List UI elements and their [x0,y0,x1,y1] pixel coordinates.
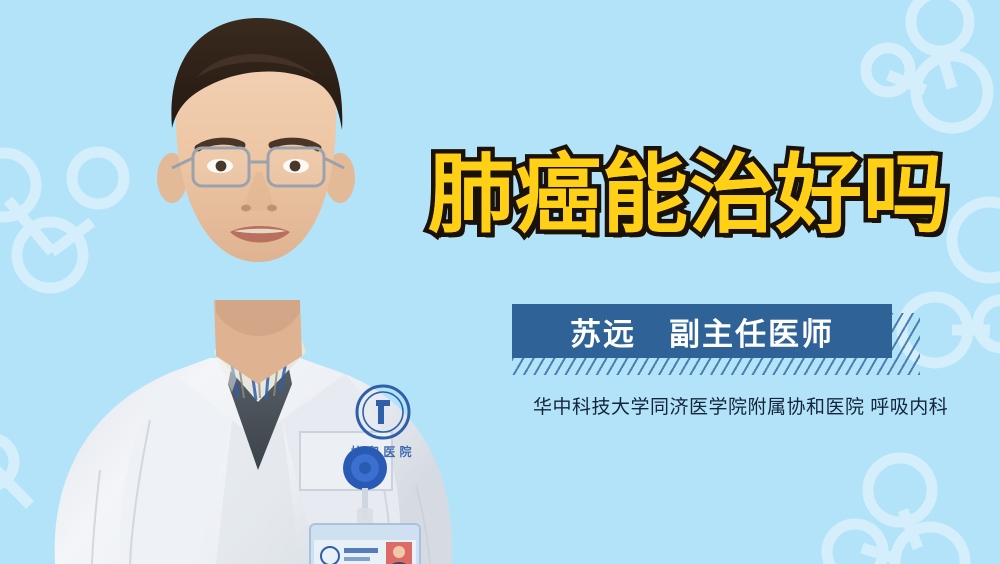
accent-circle [952,202,1000,278]
top-right-molecule [866,0,988,128]
poster-title: 肺癌能治好吗 [428,152,950,238]
doctor-name-text: 苏远 副主任医师 [570,309,834,354]
bottom-right-molecule [827,458,965,564]
poster-canvas: 协 和 医 院 肺癌能治好吗 肺癌能治好吗 [0,0,1000,564]
head [157,18,355,262]
hospital-department-subtitle: 华中科技大学同济医学院附属协和医院 呼吸内科 [533,392,948,419]
doctor-portrait: 协 和 医 院 [0,0,520,564]
id-card [310,524,420,564]
doctor-name-banner: 苏远 副主任医师 [512,304,892,358]
